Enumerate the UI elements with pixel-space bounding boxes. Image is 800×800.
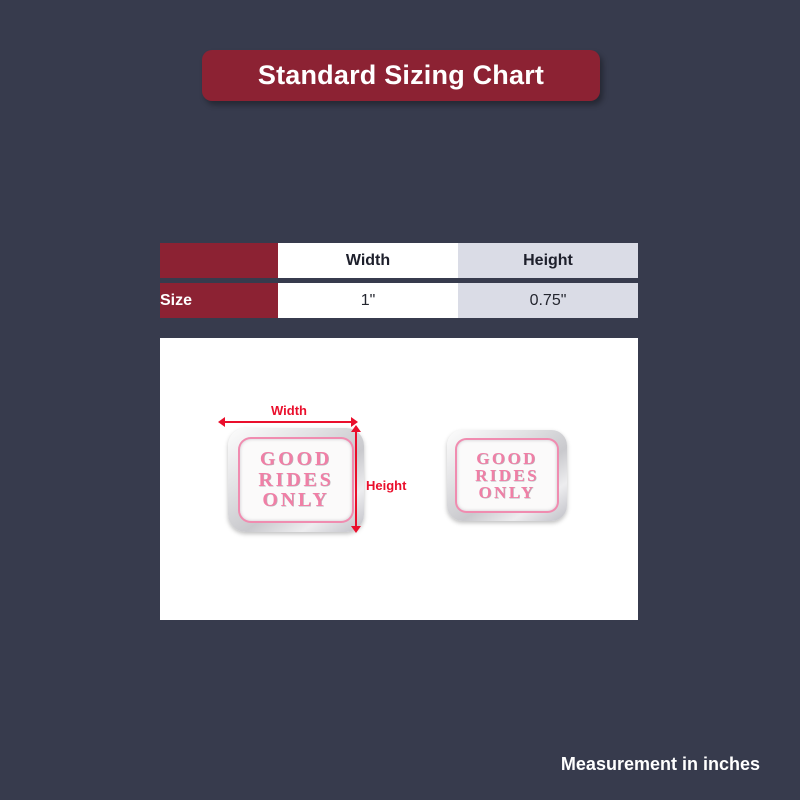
- height-arrow-up-icon: [351, 425, 361, 432]
- column-header-height: Height: [458, 243, 638, 278]
- width-dimension-label: Width: [222, 404, 356, 417]
- small-pin-line-2: RIDES: [475, 467, 539, 484]
- large-pin-line-2: RIDES: [258, 470, 333, 490]
- width-dimension-line: [222, 421, 356, 423]
- height-dimension-line: [355, 430, 357, 528]
- large-pin-face: GOOD RIDES ONLY: [238, 437, 355, 522]
- small-pin-line-1: GOOD: [476, 450, 537, 467]
- large-pin: GOOD RIDES ONLY: [228, 428, 364, 532]
- height-dimension-label: Height: [366, 479, 406, 492]
- size-table: Width Height Size 1" 0.75": [160, 243, 638, 318]
- column-header-width: Width: [278, 243, 458, 278]
- width-arrow-left-icon: [218, 417, 225, 427]
- table-header-row: Width Height: [160, 243, 638, 278]
- cell-size-width: 1": [278, 283, 458, 318]
- table-corner-cell: [160, 243, 278, 278]
- page-title: Standard Sizing Chart: [258, 62, 544, 89]
- small-pin-face: GOOD RIDES ONLY: [455, 438, 558, 513]
- row-label-size: Size: [160, 283, 278, 318]
- cell-size-height: 0.75": [458, 283, 638, 318]
- small-pin: GOOD RIDES ONLY: [447, 430, 567, 521]
- large-pin-line-1: GOOD: [260, 449, 332, 469]
- measurement-unit-note: Measurement in inches: [561, 755, 760, 773]
- height-arrow-down-icon: [351, 526, 361, 533]
- table-row: Size 1" 0.75": [160, 283, 638, 318]
- small-pin-line-3: ONLY: [478, 484, 535, 501]
- page-title-banner: Standard Sizing Chart: [202, 50, 600, 101]
- large-pin-line-3: ONLY: [262, 490, 329, 510]
- sizing-chart-page: Standard Sizing Chart Width Height Size …: [0, 0, 800, 800]
